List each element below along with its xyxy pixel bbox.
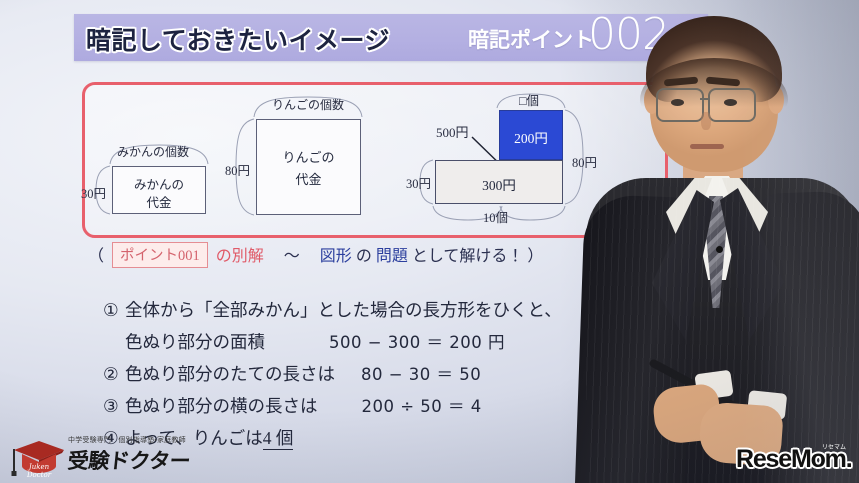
video-frame: 暗記しておきたいイメージ 暗記ポイント 002 — [0, 0, 859, 483]
resemom-logo: ReseMom. リセマム — [736, 443, 854, 473]
juken-doctor-logo: Juken Doctor 中学受験専門 個別指導塾・家庭教師 受験ドクター — [6, 432, 186, 480]
svg-text:Doctor: Doctor — [26, 471, 52, 478]
graduation-cap-icon: Juken Doctor — [10, 436, 68, 478]
juken-doctor-name: 受験ドクター — [66, 445, 191, 475]
frame-vignette — [0, 0, 859, 483]
svg-text:Juken: Juken — [27, 463, 50, 471]
juken-doctor-tagline: 中学受験専門 個別指導塾・家庭教師 — [68, 435, 186, 445]
resemom-ruby-text: リセマム — [822, 442, 846, 451]
